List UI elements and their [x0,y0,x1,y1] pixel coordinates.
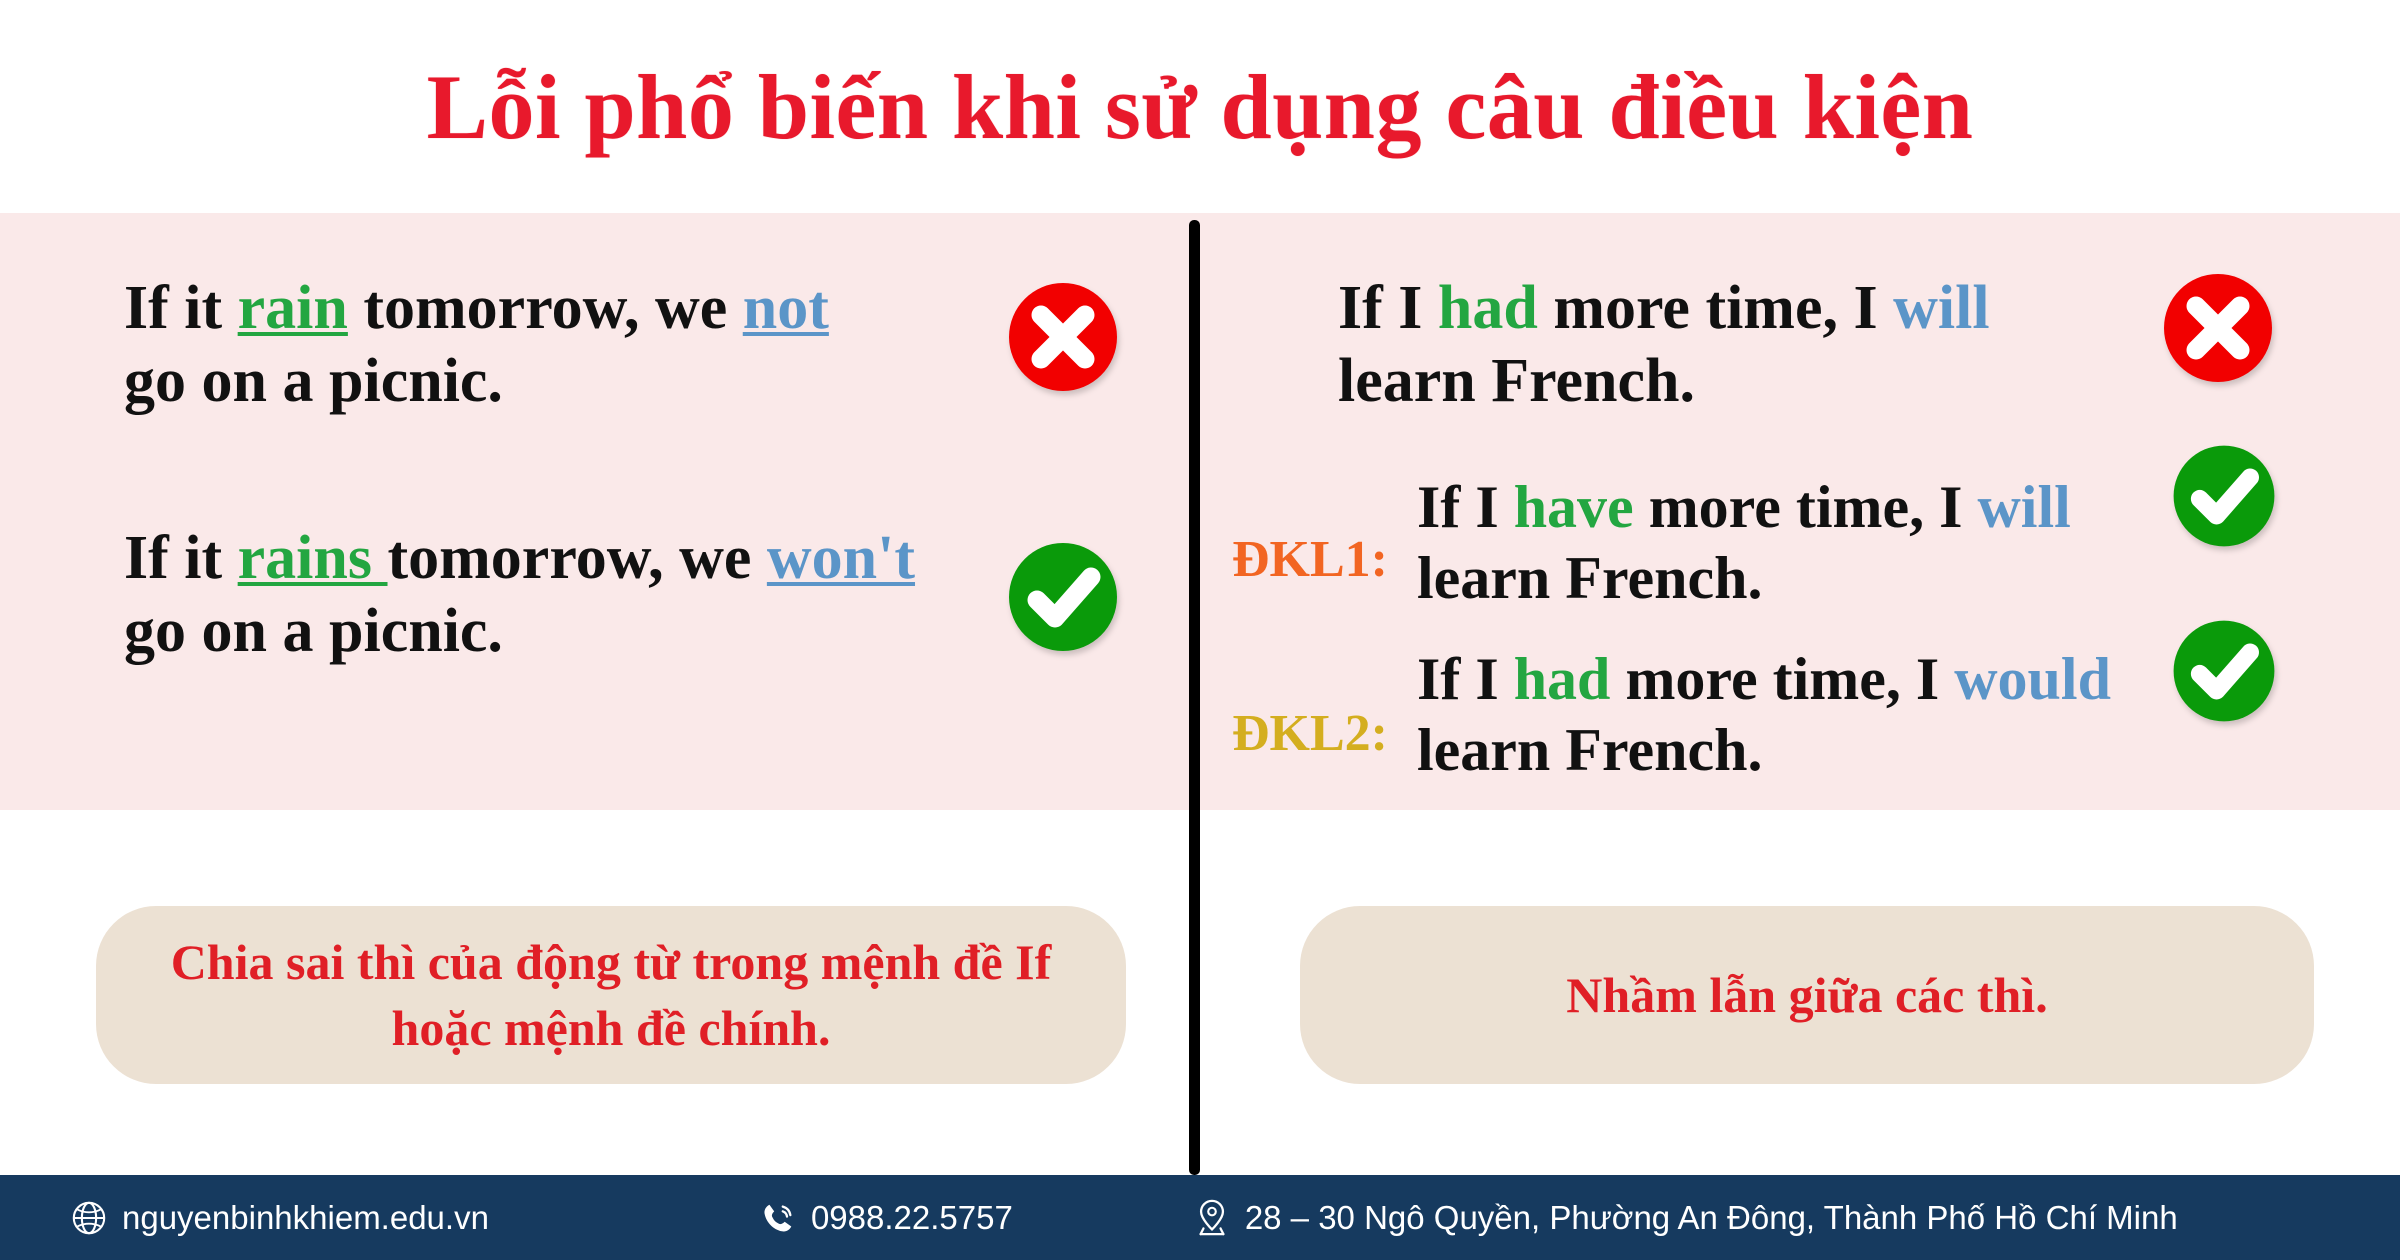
dkl1-status-badge [2168,440,2280,552]
right-caption-box: Nhầm lẫn giữa các thì. [1300,906,2314,1084]
title-bar: Lỗi phổ biến khi sử dụng câu điều kiện [0,0,2400,213]
cross-icon [2158,268,2278,388]
location-pin-icon [1193,1198,1231,1238]
text-segment: go on a picnic. [124,347,503,415]
dkl2-status-badge [2168,615,2280,727]
footer-phone[interactable]: 0988.22.5757 [759,1199,1013,1237]
left-caption-text: Chia sai thì của động từ trong mệnh đề I… [132,929,1090,1061]
dkl1-label: ĐKL1: [1232,534,1417,586]
dkl2-label: ĐKL2: [1232,708,1417,760]
highlight-verb: had [1438,274,1538,342]
footer-website-text: nguyenbinhkhiem.edu.vn [122,1199,489,1237]
page-title: Lỗi phổ biến khi sử dụng câu điều kiện [427,61,1974,153]
text-segment: tomorrow, we [348,274,743,342]
footer-address[interactable]: 28 – 30 Ngô Quyền, Phường An Đông, Thành… [1193,1198,2178,1238]
highlight-verb: rains [238,524,388,592]
text-segment: more time, I [1610,646,1954,712]
text-segment: learn French. [1417,545,1763,611]
text-segment: go on a picnic. [124,597,503,665]
infographic-page: Lỗi phổ biến khi sử dụng câu điều kiện I… [0,0,2400,1260]
highlight-verb: have [1514,474,1634,540]
footer-bar: nguyenbinhkhiem.edu.vn 0988.22.5757 28 –… [0,1175,2400,1260]
text-segment: If I [1417,646,1514,712]
globe-icon [70,1199,108,1237]
left-wrong-status-badge [1003,277,1123,397]
right-caption-text: Nhầm lẫn giữa các thì. [1566,962,2047,1028]
text-segment: tomorrow, we [388,524,767,592]
footer-phone-text: 0988.22.5757 [811,1199,1013,1237]
highlight-modal: would [1954,646,2111,712]
check-icon [1003,537,1123,657]
text-segment: If it [124,524,238,592]
footer-website[interactable]: nguyenbinhkhiem.edu.vn [70,1199,489,1237]
text-segment: more time, I [1538,274,1893,342]
text-segment: learn French. [1338,347,1695,415]
phone-icon [759,1199,797,1237]
highlight-verb: had [1514,646,1611,712]
check-icon [2168,615,2280,727]
text-segment: learn French. [1417,717,1763,783]
cross-icon [1003,277,1123,397]
text-segment: more time, I [1634,474,1978,540]
left-correct-status-badge [1003,537,1123,657]
highlight-modal: will [1977,474,2070,540]
footer-address-text: 28 – 30 Ngô Quyền, Phường An Đông, Thành… [1245,1199,2178,1237]
left-correct-example-text: If it rains tomorrow, we won't go on a p… [124,522,984,668]
left-wrong-example-text: If it rain tomorrow, we not go on a picn… [124,272,954,418]
column-divider [1189,220,1200,1175]
text-segment: If it [124,274,238,342]
check-icon [2168,440,2280,552]
right-wrong-example-text: If I had more time, I will learn French. [1338,272,2128,418]
highlight-verb: rain [238,274,348,342]
highlight-modal: not [743,274,829,342]
left-caption-box: Chia sai thì của động từ trong mệnh đề I… [96,906,1126,1084]
text-segment: If I [1417,474,1514,540]
text-segment: If I [1338,274,1438,342]
right-wrong-status-badge [2158,268,2278,388]
highlight-modal: will [1893,274,1989,342]
highlight-modal: won't [767,524,915,592]
